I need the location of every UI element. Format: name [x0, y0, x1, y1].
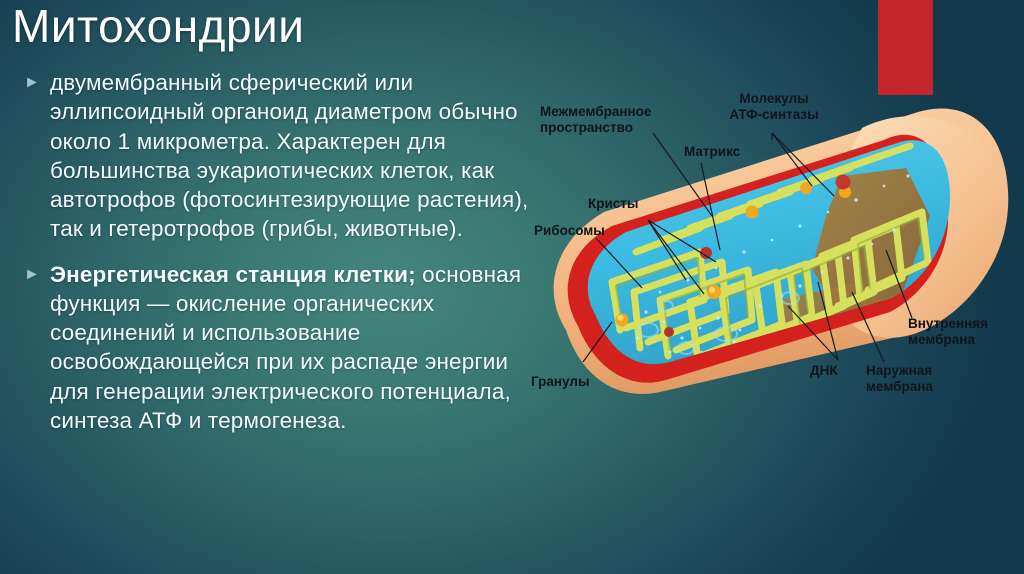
- label-atp-synthase: Молекулы АТФ-синтазы: [722, 91, 826, 123]
- label-ribosomes: Рибосомы: [534, 223, 605, 239]
- slide-canvas: Митохондрии ► двумембранный сферический …: [0, 0, 1024, 574]
- mitochondrion-diagram: [0, 0, 1024, 574]
- label-cristae: Кристы: [588, 196, 638, 212]
- label-outer-membrane: Наружная мембрана: [866, 363, 933, 395]
- label-dna: ДНК: [810, 363, 838, 379]
- label-inner-membrane: Внутренняя мембрана: [908, 316, 988, 348]
- label-intermembrane-space: Межмембранное пространство: [540, 104, 651, 136]
- label-granules: Гранулы: [531, 374, 589, 390]
- label-matrix: Матрикс: [684, 144, 740, 160]
